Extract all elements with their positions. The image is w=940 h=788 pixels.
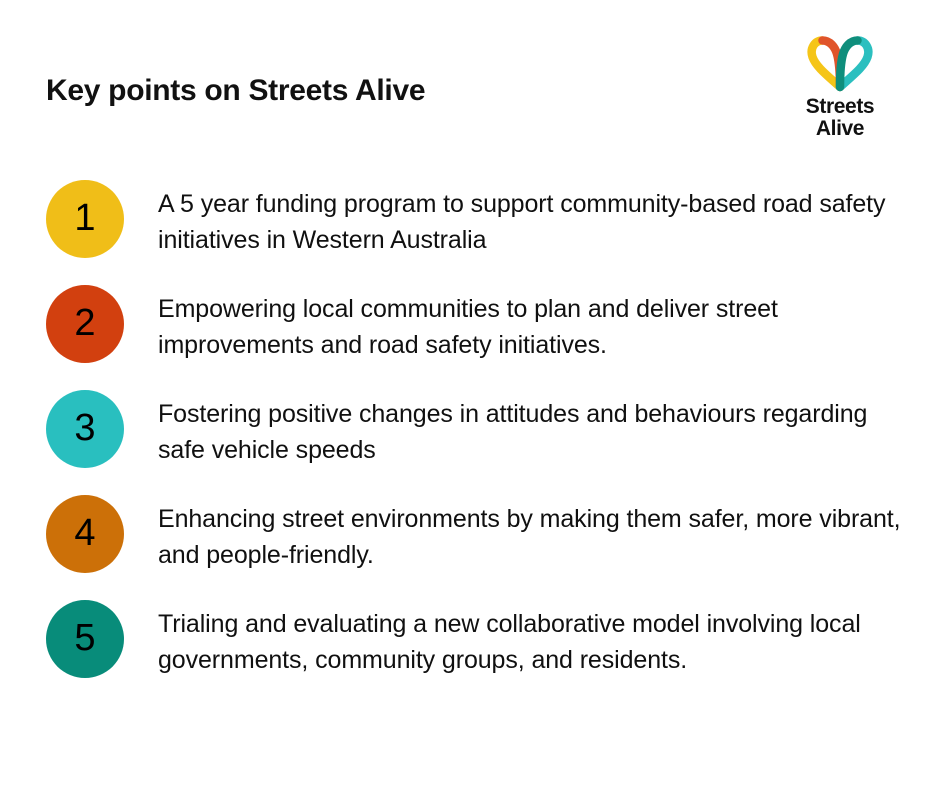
point-text-4: Enhancing street environments by making … xyxy=(124,495,906,573)
list-item: 1 A 5 year funding program to support co… xyxy=(46,180,906,258)
point-number-badge-5: 5 xyxy=(46,600,124,678)
list-item: 4 Enhancing street environments by makin… xyxy=(46,495,906,573)
list-item: 3 Fostering positive changes in attitude… xyxy=(46,390,906,468)
logo-wordmark: Streets Alive xyxy=(784,96,896,140)
heart-ribbon-icon xyxy=(804,34,876,92)
streets-alive-logo: Streets Alive xyxy=(784,34,896,142)
point-number-badge-2: 2 xyxy=(46,285,124,363)
point-text-2: Empowering local communities to plan and… xyxy=(124,285,906,363)
point-number-badge-4: 4 xyxy=(46,495,124,573)
list-item: 5 Trialing and evaluating a new collabor… xyxy=(46,600,906,678)
key-points-list: 1 A 5 year funding program to support co… xyxy=(46,180,906,678)
point-text-1: A 5 year funding program to support comm… xyxy=(124,180,906,258)
page-title: Key points on Streets Alive xyxy=(46,74,425,108)
list-item: 2 Empowering local communities to plan a… xyxy=(46,285,906,363)
page-header: Key points on Streets Alive Streets Aliv… xyxy=(0,0,940,160)
point-text-3: Fostering positive changes in attitudes … xyxy=(124,390,906,468)
point-text-5: Trialing and evaluating a new collaborat… xyxy=(124,600,906,678)
logo-word-line-2: Alive xyxy=(784,118,896,140)
point-number-badge-3: 3 xyxy=(46,390,124,468)
point-number-badge-1: 1 xyxy=(46,180,124,258)
logo-word-line-1: Streets xyxy=(784,96,896,118)
